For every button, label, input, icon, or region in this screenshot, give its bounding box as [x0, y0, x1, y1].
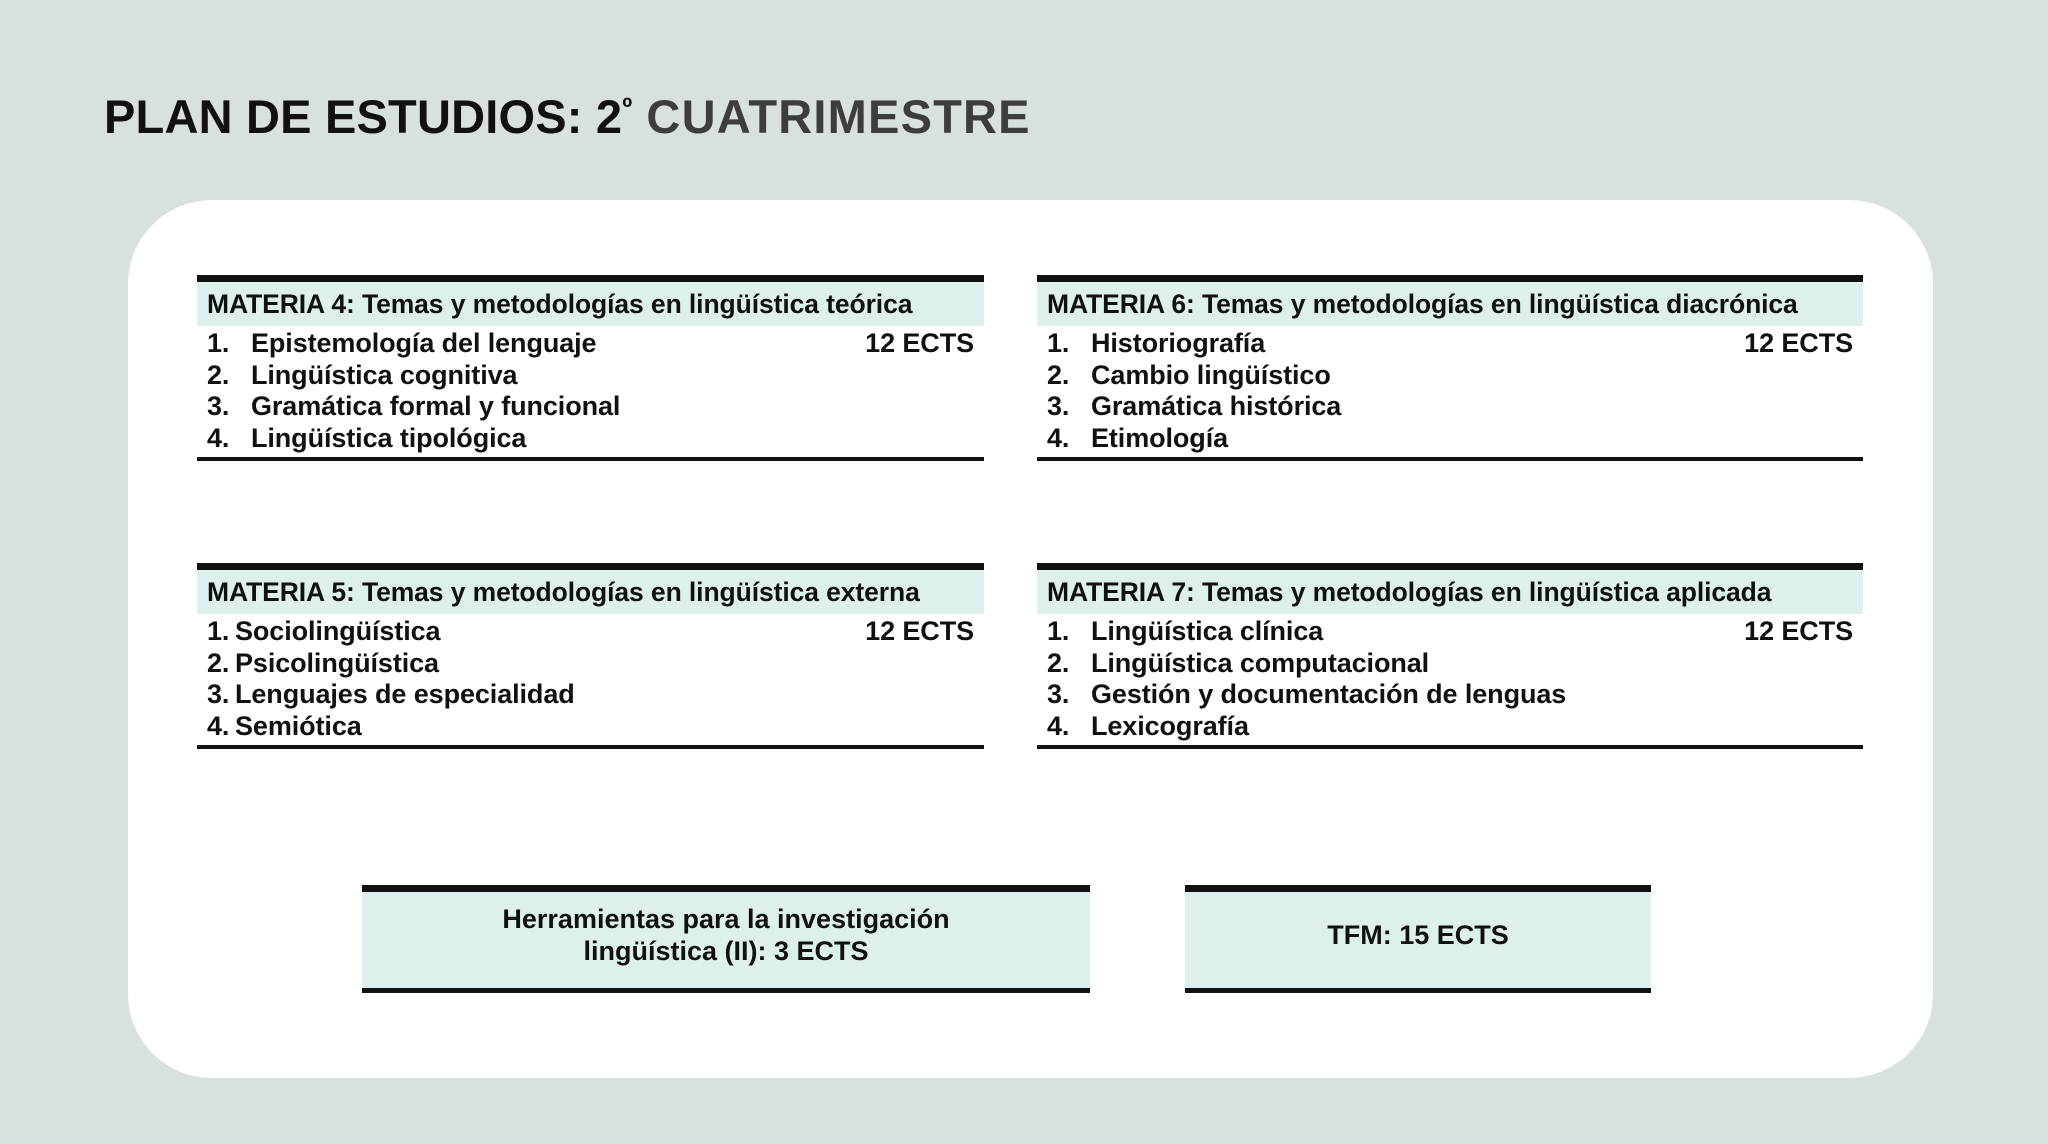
herramientas-line-1: Herramientas para la investigación: [362, 904, 1090, 936]
item-label: Lingüística clínica: [1091, 616, 1726, 647]
materia-block-6: MATERIA 6: Temas y metodologías en lingü…: [1037, 275, 1863, 461]
materia-5-list: 1. Sociolingüística 12 ECTS 2. Psicoling…: [197, 614, 984, 745]
materia-6-header: MATERIA 6: Temas y metodologías en lingü…: [1037, 282, 1863, 326]
materia-7-header: MATERIA 7: Temas y metodologías en lingü…: [1037, 570, 1863, 614]
materia-4-list: 1. Epistemología del lenguaje 12 ECTS 2.…: [197, 326, 984, 457]
item-number: 2.: [207, 648, 235, 679]
item-number: 2.: [207, 360, 251, 391]
item-number: 3.: [207, 391, 251, 422]
item-label: Lenguajes de especialidad: [235, 679, 974, 710]
item-label: Lingüística tipológica: [251, 423, 974, 454]
page-title: PLAN DE ESTUDIOS: 2ºCUATRIMESTRE: [104, 91, 1031, 143]
item-label: Lingüística computacional: [1091, 648, 1853, 679]
list-item: 4. Etimología: [1037, 423, 1863, 454]
list-item: 2. Lingüística cognitiva: [197, 360, 984, 391]
materia-7-ects: 12 ECTS: [1726, 616, 1853, 647]
list-item: 1. Epistemología del lenguaje 12 ECTS: [197, 328, 984, 359]
list-item: 2. Cambio lingüístico: [1037, 360, 1863, 391]
item-number: 4.: [207, 423, 251, 454]
list-item: 3. Lenguajes de especialidad: [197, 679, 984, 710]
item-label: Cambio lingüístico: [1091, 360, 1853, 391]
materia-7-list: 1. Lingüística clínica 12 ECTS 2. Lingüí…: [1037, 614, 1863, 745]
item-label: Gramática formal y funcional: [251, 391, 974, 422]
list-item: 4. Lingüística tipológica: [197, 423, 984, 454]
materia-block-4: MATERIA 4: Temas y metodologías en lingü…: [197, 275, 984, 461]
list-item: 2. Lingüística computacional: [1037, 648, 1863, 679]
item-label: Gramática histórica: [1091, 391, 1853, 422]
list-item: 1. Sociolingüística 12 ECTS: [197, 616, 984, 647]
item-number: 1.: [207, 616, 235, 647]
materia-block-5: MATERIA 5: Temas y metodologías en lingü…: [197, 563, 984, 749]
item-number: 4.: [1047, 423, 1091, 454]
materia-5-ects: 12 ECTS: [847, 616, 974, 647]
list-item: 4. Semiótica: [197, 711, 984, 742]
materia-6-list: 1. Historiografía 12 ECTS 2. Cambio ling…: [1037, 326, 1863, 457]
item-number: 2.: [1047, 360, 1091, 391]
item-label: Etimología: [1091, 423, 1853, 454]
list-item: 4. Lexicografía: [1037, 711, 1863, 742]
tfm-line-1: TFM: 15 ECTS: [1185, 920, 1651, 952]
herramientas-line-2: lingüística (II): 3 ECTS: [362, 936, 1090, 968]
item-number: 3.: [1047, 679, 1091, 710]
item-number: 2.: [1047, 648, 1091, 679]
item-number: 1.: [1047, 616, 1091, 647]
item-number: 3.: [1047, 391, 1091, 422]
ordinal-indicator: º: [622, 92, 632, 123]
list-item: 1. Historiografía 12 ECTS: [1037, 328, 1863, 359]
item-label: Sociolingüística: [235, 616, 847, 647]
list-item: 1. Lingüística clínica 12 ECTS: [1037, 616, 1863, 647]
tfm-banner: TFM: 15 ECTS: [1185, 885, 1651, 993]
item-label: Semiótica: [235, 711, 974, 742]
item-number: 1.: [207, 328, 251, 359]
materia-block-7: MATERIA 7: Temas y metodologías en lingü…: [1037, 563, 1863, 749]
item-label: Gestión y documentación de lenguas: [1091, 679, 1853, 710]
item-label: Epistemología del lenguaje: [251, 328, 847, 359]
item-label: Historiografía: [1091, 328, 1726, 359]
page-title-sub: CUATRIMESTRE: [646, 90, 1030, 143]
materia-5-header: MATERIA 5: Temas y metodologías en lingü…: [197, 570, 984, 614]
slide-root: PLAN DE ESTUDIOS: 2ºCUATRIMESTRE MATERIA…: [0, 0, 2048, 1144]
herramientas-banner: Herramientas para la investigación lingü…: [362, 885, 1090, 993]
item-number: 1.: [1047, 328, 1091, 359]
item-number: 3.: [207, 679, 235, 710]
materia-4-ects: 12 ECTS: [847, 328, 974, 359]
list-item: 3. Gramática histórica: [1037, 391, 1863, 422]
list-item: 2. Psicolingüística: [197, 648, 984, 679]
materia-4-header: MATERIA 4: Temas y metodologías en lingü…: [197, 282, 984, 326]
item-label: Lingüística cognitiva: [251, 360, 974, 391]
item-number: 4.: [1047, 711, 1091, 742]
item-number: 4.: [207, 711, 235, 742]
list-item: 3. Gestión y documentación de lenguas: [1037, 679, 1863, 710]
materia-6-ects: 12 ECTS: [1726, 328, 1853, 359]
page-title-main: PLAN DE ESTUDIOS: 2º: [104, 90, 632, 143]
item-label: Lexicografía: [1091, 711, 1853, 742]
list-item: 3. Gramática formal y funcional: [197, 391, 984, 422]
item-label: Psicolingüística: [235, 648, 974, 679]
